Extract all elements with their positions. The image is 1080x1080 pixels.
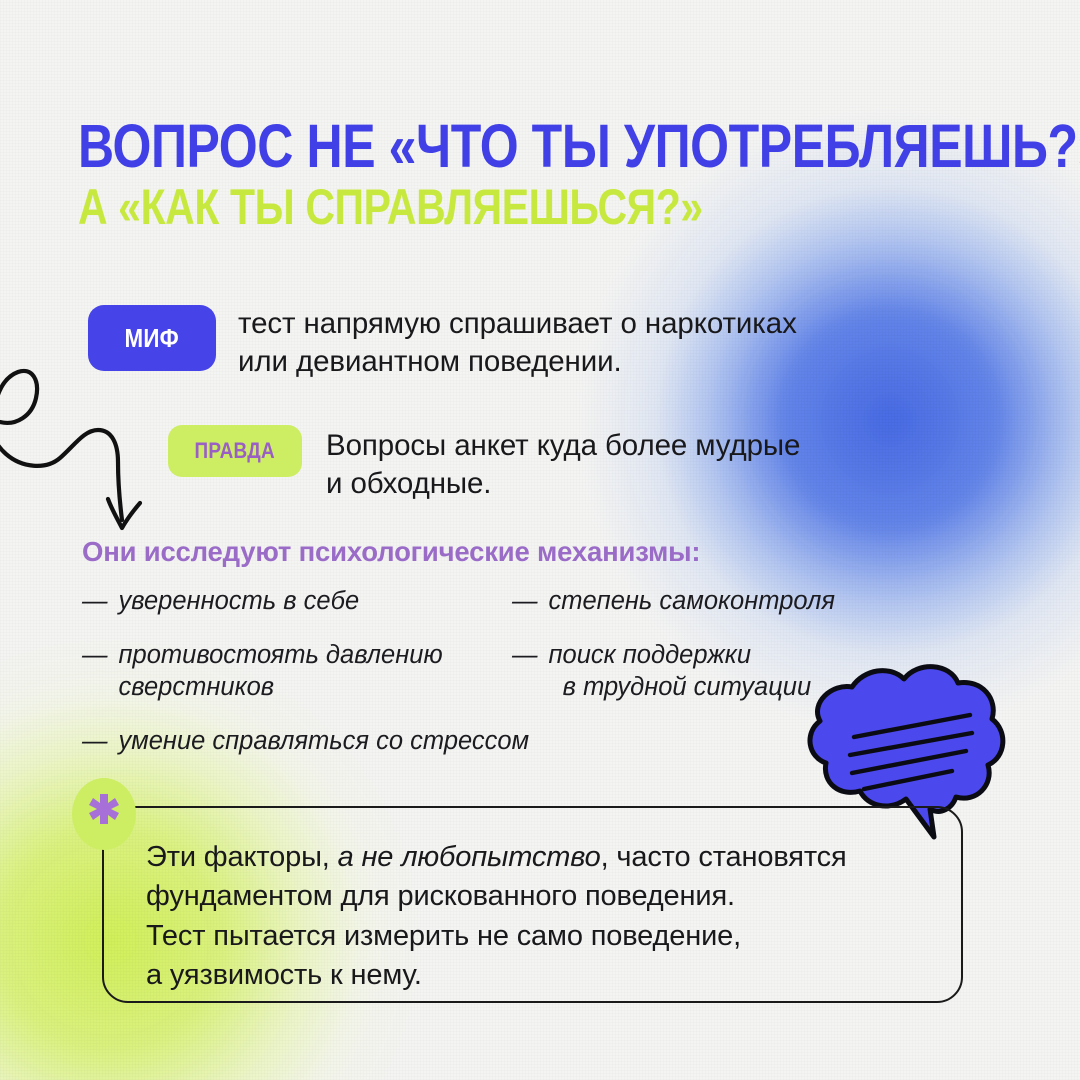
badge-myth-label: МИФ bbox=[125, 323, 180, 354]
claim-row-truth: ПРАВДА Вопросы анкет куда более мудрые и… bbox=[168, 425, 800, 503]
claim-myth-line-1: тест напрямую спрашивает о наркотиках bbox=[238, 305, 797, 343]
list-item: — степень самоконтроля bbox=[512, 585, 952, 617]
callout-emphasis: а не любопытство bbox=[338, 841, 601, 873]
list-item-label: уверенность в себе bbox=[119, 585, 360, 617]
curly-arrow-icon bbox=[0, 358, 174, 548]
claim-myth-text: тест напрямую спрашивает о наркотиках ил… bbox=[238, 305, 797, 381]
list-item-label: поиск поддержки в трудной ситуации bbox=[549, 639, 812, 703]
mechanisms-column-left: — уверенность в себе — противостоять дав… bbox=[82, 585, 512, 780]
title-line-1: ВОПРОС НЕ «ЧТО ТЫ УПОТРЕБЛЯЕШЬ?», bbox=[78, 118, 849, 176]
claim-truth-text: Вопросы анкет куда более мудрые и обходн… bbox=[326, 425, 800, 503]
callout-line-2: фундаментом для рискованного поведения. bbox=[146, 877, 956, 916]
list-item-label: противостоять давлениюсверстников bbox=[119, 639, 443, 703]
infographic-canvas: ВОПРОС НЕ «ЧТО ТЫ УПОТРЕБЛЯЕШЬ?», А «КАК… bbox=[0, 0, 1080, 1080]
page-title: ВОПРОС НЕ «ЧТО ТЫ УПОТРЕБЛЯЕШЬ?», А «КАК… bbox=[78, 118, 1018, 231]
badge-truth-label: ПРАВДА bbox=[195, 438, 275, 464]
list-item-label: степень самоконтроля bbox=[549, 585, 836, 617]
list-dash: — bbox=[512, 639, 538, 703]
claim-truth-line-1: Вопросы анкет куда более мудрые bbox=[326, 427, 800, 465]
mechanisms-heading: Они исследуют психологические механизмы: bbox=[82, 536, 700, 568]
claim-truth-line-2: и обходные. bbox=[326, 465, 800, 503]
callout-line-4: а уязвимость к нему. bbox=[146, 956, 956, 995]
callout-line-3: Тест пытается измерить не само поведение… bbox=[146, 917, 956, 956]
badge-truth: ПРАВДА bbox=[168, 425, 302, 477]
claim-myth-line-2: или девиантном поведении. bbox=[238, 343, 797, 381]
title-line-2: А «КАК ТЫ СПРАВЛЯЕШЬСЯ?» bbox=[78, 184, 849, 232]
list-item: — уверенность в себе bbox=[82, 585, 512, 617]
claim-row-myth: МИФ тест напрямую спрашивает о наркотика… bbox=[88, 305, 797, 381]
list-item: — умение справляться со стрессом bbox=[82, 725, 642, 757]
callout-part-1: Эти факторы, bbox=[146, 841, 338, 873]
callout-part-2: , часто становятся bbox=[601, 841, 847, 873]
list-item: — противостоять давлениюсверстников bbox=[82, 639, 512, 703]
callout-text: Эти факторы, а не любопытство, часто ста… bbox=[146, 838, 956, 996]
list-dash: — bbox=[82, 639, 108, 703]
asterisk-icon bbox=[72, 778, 136, 850]
callout-line-1: Эти факторы, а не любопытство, часто ста… bbox=[146, 838, 956, 877]
list-dash: — bbox=[512, 585, 538, 617]
list-dash: — bbox=[82, 585, 108, 617]
list-item-label: умение справляться со стрессом bbox=[119, 725, 530, 757]
list-dash: — bbox=[82, 725, 108, 757]
